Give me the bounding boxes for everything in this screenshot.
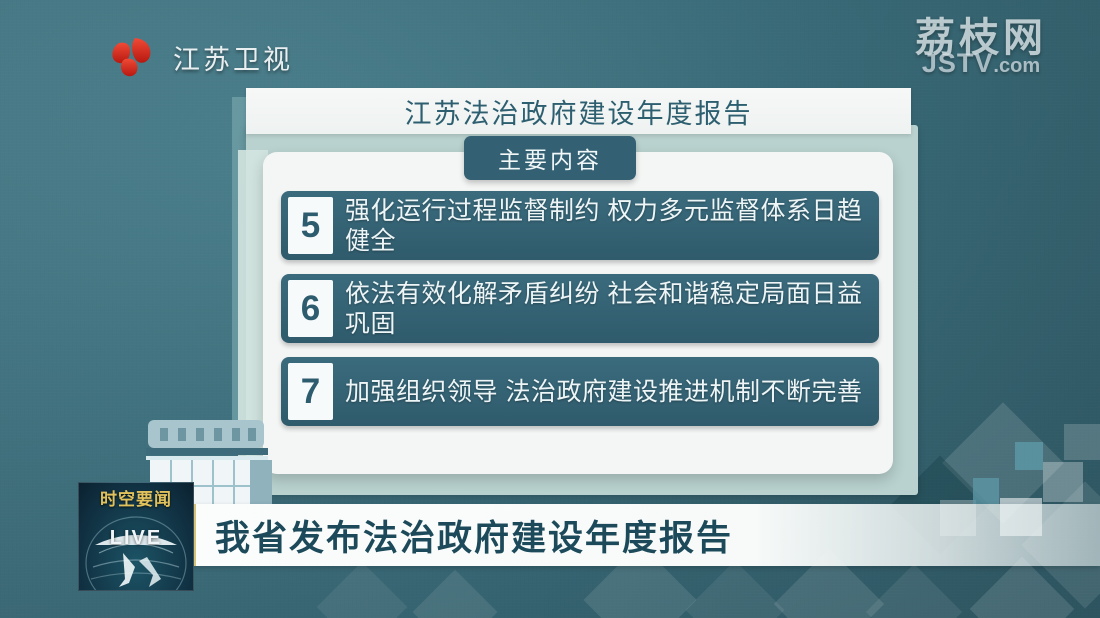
list-item-text: 强化运行过程监督制约 权力多元监督体系日趋健全 bbox=[333, 191, 879, 260]
list-item-number-box: 5 bbox=[288, 197, 333, 254]
list-item: 5 强化运行过程监督制约 权力多元监督体系日趋健全 bbox=[281, 191, 879, 260]
list-item-number: 6 bbox=[301, 291, 320, 326]
list-item-number-box: 7 bbox=[288, 363, 333, 420]
jstv-watermark-en-main: JSTV bbox=[922, 48, 994, 78]
section-badge-label: 主要内容 bbox=[498, 141, 602, 175]
graphic-title-band: 江苏法治政府建设年度报告 bbox=[246, 88, 911, 134]
section-badge: 主要内容 bbox=[464, 136, 636, 180]
channel-logo-label: 江苏卫视 bbox=[173, 38, 293, 77]
list-item: 7 加强组织领导 法治政府建设推进机制不断完善 bbox=[281, 357, 879, 426]
jstv-watermark-en: JSTV.com bbox=[876, 50, 1086, 77]
list-item-number-box: 6 bbox=[288, 280, 333, 337]
jstv-watermark: 荔枝网 JSTV.com bbox=[876, 18, 1086, 77]
page-title: 江苏法治政府建设年度报告 bbox=[405, 92, 753, 131]
headline-text: 我省发布法治政府建设年度报告 bbox=[215, 504, 733, 566]
bg-square-right-3 bbox=[1064, 424, 1100, 460]
channel-logo: 江苏卫视 bbox=[105, 34, 293, 80]
live-indicator: LIVE bbox=[79, 527, 193, 550]
broadcast-screen: 江苏卫视 荔枝网 JSTV.com 江苏法治政府建设年度报告 主要内容 5 强化… bbox=[0, 0, 1100, 618]
bg-square-right-1 bbox=[1043, 462, 1083, 502]
list-item: 6 依法有效化解矛盾纠纷 社会和谐稳定局面日益巩固 bbox=[281, 274, 879, 343]
program-live-badge: 时空要闻 LIVE bbox=[78, 482, 194, 591]
bg-square-teal-1 bbox=[1015, 442, 1043, 470]
list-item-text: 加强组织领导 法治政府建设推进机制不断完善 bbox=[333, 357, 879, 426]
jstv-watermark-en-suffix: .com bbox=[993, 55, 1040, 77]
list-item-number: 7 bbox=[301, 374, 320, 409]
content-item-list: 5 强化运行过程监督制约 权力多元监督体系日趋健全 6 依法有效化解矛盾纠纷 社… bbox=[281, 191, 879, 440]
list-item-number: 5 bbox=[301, 208, 320, 243]
bg-square-teal-2 bbox=[973, 478, 999, 504]
list-item-text: 依法有效化解矛盾纠纷 社会和谐稳定局面日益巩固 bbox=[333, 274, 879, 343]
jiangsu-satellite-tv-flame-logo-icon bbox=[105, 35, 161, 79]
